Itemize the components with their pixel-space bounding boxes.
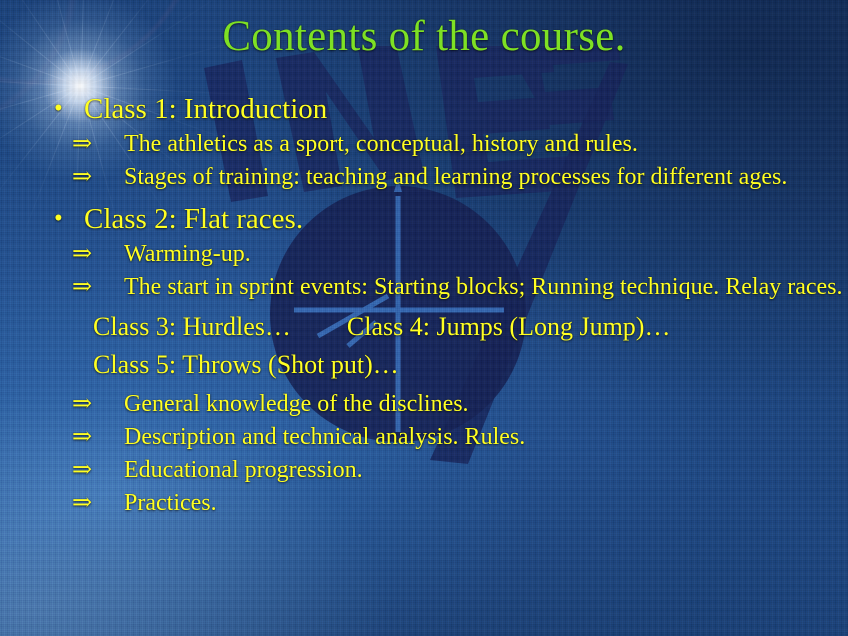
list-item-warming-up: ⇒Warming-up. (0, 239, 848, 270)
list-item-stages-training: ⇒Stages of training: teaching and learni… (0, 162, 848, 193)
list-item-label: Practices. (124, 490, 217, 516)
list-item-description-analysis: ⇒Description and technical analysis. Rul… (0, 422, 848, 453)
list-item-athletics-sport: ⇒The athletics as a sport, conceptual, h… (0, 129, 848, 160)
double-arrow-icon: ⇒ (98, 488, 124, 519)
slide-title: Contents of the course. (0, 14, 848, 59)
list-item-label-class-4: Class 4: Jumps (Long Jump)… (347, 312, 671, 341)
list-item-label: Stages of training: teaching and learnin… (124, 164, 787, 190)
list-item-label: Class 2: Flat races. (84, 203, 303, 235)
list-item-label: The athletics as a sport, conceptual, hi… (124, 131, 638, 157)
list-item-class-3-and-4: Class 3: Hurdles…Class 4: Jumps (Long Ju… (0, 309, 848, 345)
list-item-label: Educational progression. (124, 457, 363, 483)
list-item-general-knowledge: ⇒General knowledge of the disclines. (0, 389, 848, 420)
list-item-label: Class 5: Throws (Shot put)… (93, 350, 399, 379)
double-arrow-icon: ⇒ (98, 129, 124, 160)
list-item-educational-progression: ⇒Educational progression. (0, 455, 848, 486)
list-item-class-1: • Class 1: Introduction (0, 92, 848, 126)
list-item-label: Description and technical analysis. Rule… (124, 424, 525, 450)
bullet-icon: • (54, 202, 70, 236)
double-arrow-icon: ⇒ (98, 162, 124, 193)
slide-body: • Class 1: Introduction ⇒The athletics a… (0, 92, 848, 521)
double-arrow-icon: ⇒ (98, 422, 124, 453)
list-item-label: General knowledge of the disclines. (124, 391, 469, 417)
spacer (0, 195, 848, 202)
list-item-label: Warming-up. (124, 241, 251, 267)
list-item-label-class-3: Class 3: Hurdles… (93, 312, 291, 341)
list-item-practices: ⇒Practices. (0, 488, 848, 519)
list-item-class-5: Class 5: Throws (Shot put)… (0, 347, 848, 383)
double-arrow-icon: ⇒ (98, 272, 124, 303)
presentation-slide: Contents of the course. • Class 1: Intro… (0, 0, 848, 636)
list-item-sprint-start: ⇒The start in sprint events: Starting bl… (0, 272, 848, 303)
double-arrow-icon: ⇒ (98, 455, 124, 486)
bullet-icon: • (54, 92, 70, 126)
double-arrow-icon: ⇒ (98, 239, 124, 270)
list-item-label: The start in sprint events: Starting blo… (124, 274, 843, 300)
list-item-class-2: • Class 2: Flat races. (0, 202, 848, 236)
list-item-label: Class 1: Introduction (84, 93, 327, 125)
double-arrow-icon: ⇒ (98, 389, 124, 420)
